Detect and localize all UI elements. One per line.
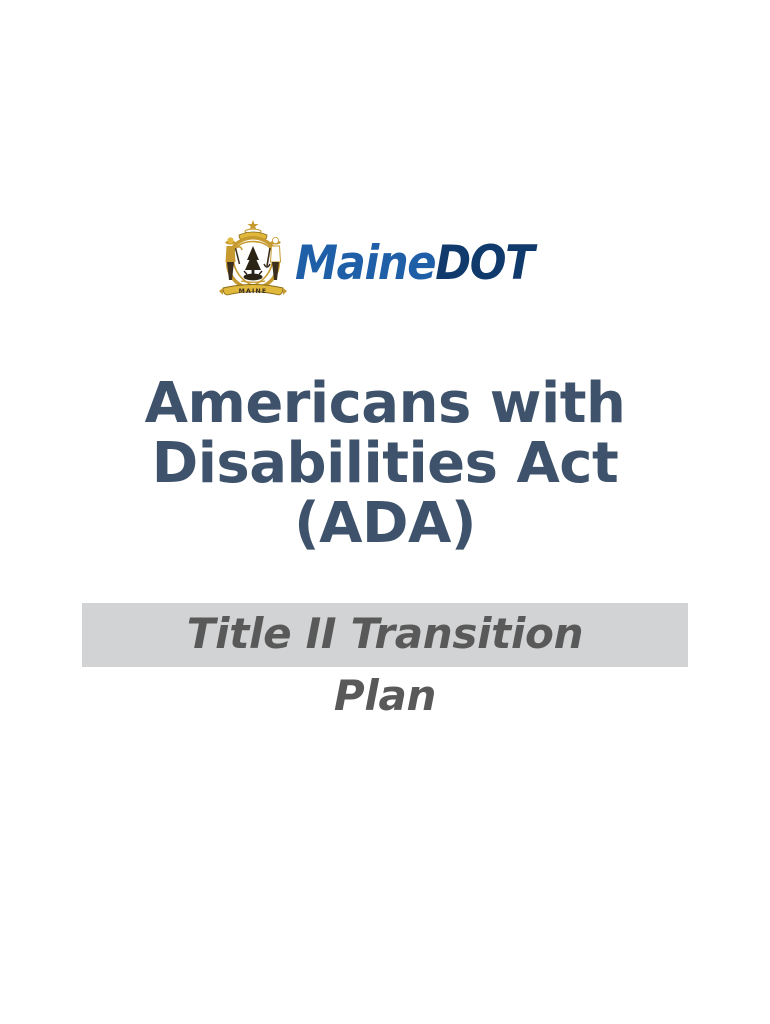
title-line-1: Americans with xyxy=(0,374,770,434)
title-line-3: (ADA) xyxy=(0,494,770,554)
page-subtitle: Title II Transition Plan xyxy=(0,603,770,724)
subtitle-line-highlighted: Title II Transition xyxy=(82,603,688,668)
svg-text:MAINE: MAINE xyxy=(238,288,267,295)
wordmark-maine: Maine xyxy=(295,236,435,291)
subtitle-line-plain: Plan xyxy=(0,667,770,724)
maine-state-seal-icon: MAINE xyxy=(217,218,289,302)
document-cover-page: MAINE MaineDOT Americans with Disabiliti… xyxy=(0,0,770,1024)
page-title: Americans with Disabilities Act (ADA) xyxy=(0,374,770,555)
title-line-2: Disabilities Act xyxy=(0,434,770,494)
mainedot-logo: MAINE MaineDOT xyxy=(0,218,770,302)
mainedot-wordmark: MaineDOT xyxy=(295,240,533,287)
wordmark-dot: DOT xyxy=(435,236,533,291)
